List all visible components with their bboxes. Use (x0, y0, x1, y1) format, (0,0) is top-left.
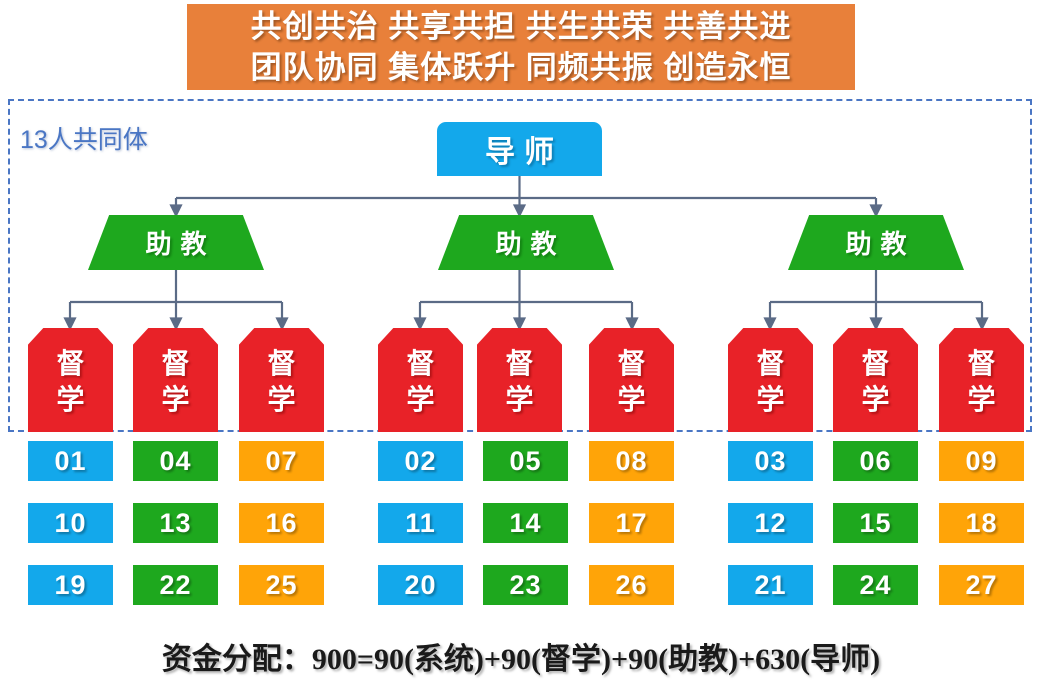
supervisor-node[interactable]: 督 学 (833, 328, 918, 432)
supervisor-node[interactable]: 督 学 (28, 328, 113, 432)
supervisor-label-bottom: 学 (505, 382, 533, 418)
supervisor-label-bottom: 学 (617, 382, 645, 418)
supervisor-label-top: 督 (56, 346, 84, 382)
supervisor-node[interactable]: 督 学 (728, 328, 813, 432)
assistant-node[interactable]: 助教 (788, 215, 964, 270)
supervisor-label-top: 督 (756, 346, 784, 382)
member-number-tile[interactable]: 07 (239, 441, 324, 481)
supervisor-label-bottom: 学 (56, 382, 84, 418)
supervisor-label-top: 督 (267, 346, 295, 382)
member-number-tile[interactable]: 22 (133, 565, 218, 605)
community-label: 13人共同体 (20, 120, 148, 156)
supervisor-label-top: 督 (161, 346, 189, 382)
member-number-tile[interactable]: 14 (483, 503, 568, 543)
supervisor-node[interactable]: 督 学 (477, 328, 562, 432)
supervisor-label-bottom: 学 (161, 382, 189, 418)
member-number-tile[interactable]: 12 (728, 503, 813, 543)
mentor-node[interactable]: 导师 (437, 122, 602, 176)
member-number-tile[interactable]: 26 (589, 565, 674, 605)
member-number-tile[interactable]: 11 (378, 503, 463, 543)
member-number-tile[interactable]: 19 (28, 565, 113, 605)
member-number-tile[interactable]: 09 (939, 441, 1024, 481)
supervisor-label-top: 督 (861, 346, 889, 382)
member-number-tile[interactable]: 25 (239, 565, 324, 605)
supervisor-label-top: 督 (967, 346, 995, 382)
supervisor-label-bottom: 学 (406, 382, 434, 418)
supervisor-node[interactable]: 督 学 (939, 328, 1024, 432)
assistant-label: 助教 (136, 224, 215, 261)
member-number-tile[interactable]: 27 (939, 565, 1024, 605)
supervisor-label-bottom: 学 (861, 382, 889, 418)
member-number-tile[interactable]: 24 (833, 565, 918, 605)
member-number-tile[interactable]: 02 (378, 441, 463, 481)
member-number-tile[interactable]: 20 (378, 565, 463, 605)
member-number-tile[interactable]: 13 (133, 503, 218, 543)
member-number-tile[interactable]: 05 (483, 441, 568, 481)
member-number-tile[interactable]: 04 (133, 441, 218, 481)
member-number-tile[interactable]: 16 (239, 503, 324, 543)
supervisor-label-top: 督 (505, 346, 533, 382)
member-number-tile[interactable]: 01 (28, 441, 113, 481)
member-number-tile[interactable]: 06 (833, 441, 918, 481)
member-number-tile[interactable]: 23 (483, 565, 568, 605)
member-number-tile[interactable]: 17 (589, 503, 674, 543)
slogan-banner: 共创共治 共享共担 共生共荣 共善共进 团队协同 集体跃升 同频共振 创造永恒 (187, 4, 855, 90)
supervisor-label-bottom: 学 (756, 382, 784, 418)
mentor-label: 导师 (476, 127, 563, 171)
slogan-line-1: 共创共治 共享共担 共生共荣 共善共进 (251, 6, 792, 47)
assistant-node[interactable]: 助教 (438, 215, 614, 270)
funding-caption: 资金分配：900=90(系统)+90(督学)+90(助教)+630(导师) (0, 634, 1042, 678)
slogan-line-2: 团队协同 集体跃升 同频共振 创造永恒 (251, 47, 792, 88)
supervisor-label-top: 督 (617, 346, 645, 382)
supervisor-label-top: 督 (406, 346, 434, 382)
supervisor-label-bottom: 学 (267, 382, 295, 418)
supervisor-node[interactable]: 督 学 (589, 328, 674, 432)
supervisor-node[interactable]: 督 学 (239, 328, 324, 432)
member-number-tile[interactable]: 10 (28, 503, 113, 543)
supervisor-label-bottom: 学 (967, 382, 995, 418)
member-number-tile[interactable]: 21 (728, 565, 813, 605)
assistant-label: 助教 (486, 224, 565, 261)
member-number-tile[interactable]: 08 (589, 441, 674, 481)
supervisor-node[interactable]: 督 学 (378, 328, 463, 432)
member-number-tile[interactable]: 15 (833, 503, 918, 543)
member-number-tile[interactable]: 18 (939, 503, 1024, 543)
member-number-tile[interactable]: 03 (728, 441, 813, 481)
assistant-node[interactable]: 助教 (88, 215, 264, 270)
supervisor-node[interactable]: 督 学 (133, 328, 218, 432)
assistant-label: 助教 (836, 224, 915, 261)
